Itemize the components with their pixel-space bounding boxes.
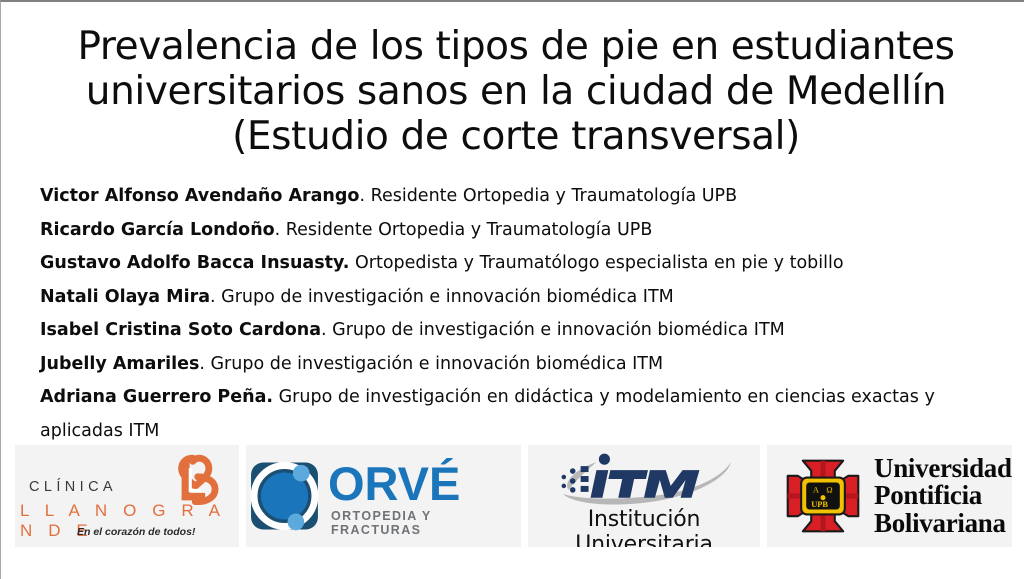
upb-cross-shield-icon: A Ω UPB — [781, 454, 865, 538]
title-line-1: Prevalencia de los tipos de pie en estud… — [61, 24, 971, 69]
llanogrande-word-clinica: CLÍNICA — [29, 479, 117, 495]
itm-swoosh-logo-icon — [545, 450, 743, 508]
itm-subtitle: Institución Universitaria — [528, 507, 760, 547]
upb-shield-initials: UPB — [811, 500, 828, 509]
upb-line-1: Universidad — [874, 455, 1012, 483]
author-entry: Ricardo García Londoño. Residente Ortope… — [40, 214, 1015, 248]
author-name: Gustavo Adolfo Bacca Insuasty. — [40, 253, 349, 273]
author-affiliation: Ortopedista y Traumatólogo especialista … — [349, 253, 843, 273]
presentation-slide: Prevalencia de los tipos de pie en estud… — [0, 0, 1024, 579]
author-entry: Gustavo Adolfo Bacca Insuasty. Ortopedis… — [40, 247, 1015, 281]
author-entry: Natali Olaya Mira. Grupo de investigació… — [40, 281, 1015, 315]
orve-circle-emblem-icon — [248, 458, 324, 534]
orve-subtitle: ORTOPEDIA Y FRACTURAS — [331, 509, 521, 537]
logo-panel-orve: ORVÉ ORTOPEDIA Y FRACTURAS — [246, 445, 521, 547]
author-entry: Jubelly Amariles. Grupo de investigación… — [40, 348, 1015, 382]
orve-wordmark: ORVÉ — [328, 460, 521, 508]
author-name: Jubelly Amariles — [40, 354, 199, 374]
author-affiliation: . Grupo de investigación e innovación bi… — [199, 354, 663, 374]
llanogrande-tagline: En el corazón de todos! — [77, 526, 195, 538]
author-affiliation: . Grupo de investigación e innovación bi… — [210, 287, 674, 307]
author-entry: Adriana Guerrero Peña. Grupo de investig… — [40, 381, 1015, 448]
author-name: Adriana Guerrero Peña. — [40, 387, 273, 407]
upb-wordmark: Universidad Pontificia Bolivariana — [874, 455, 1012, 538]
author-name: Ricardo García Londoño — [40, 220, 275, 240]
author-name: Victor Alfonso Avendaño Arango — [40, 186, 359, 206]
author-entry: Victor Alfonso Avendaño Arango. Resident… — [40, 180, 1015, 214]
author-affiliation: . Residente Ortopedia y Traumatología UP… — [275, 220, 653, 240]
slide-title: Prevalencia de los tipos de pie en estud… — [61, 24, 971, 159]
upb-shield-alpha: A — [813, 486, 819, 495]
logo-panel-upb: A Ω UPB Universidad Pontificia Bolivaria… — [767, 445, 1012, 547]
upb-shield-omega: Ω — [826, 486, 832, 495]
upb-line-2: Pontificia — [874, 482, 1012, 510]
author-affiliation: . Grupo de investigación e innovación bi… — [321, 320, 785, 340]
author-entry: Isabel Cristina Soto Cardona. Grupo de i… — [40, 314, 1015, 348]
title-line-2: universitarios sanos en la ciudad de Med… — [61, 69, 971, 114]
title-line-3: (Estudio de corte transversal) — [61, 114, 971, 159]
author-list: Victor Alfonso Avendaño Arango. Resident… — [40, 180, 1015, 448]
author-affiliation: . Residente Ortopedia y Traumatología UP… — [359, 186, 737, 206]
logo-panel-itm: Institución Universitaria — [528, 445, 760, 547]
author-name: Natali Olaya Mira — [40, 287, 210, 307]
upb-line-3: Bolivariana — [874, 510, 1012, 538]
logo-panel-llanogrande: CLÍNICA L L A N O G R A N D E En el cora… — [15, 445, 239, 547]
sponsor-logo-strip: CLÍNICA L L A N O G R A N D E En el cora… — [15, 445, 1013, 547]
author-name: Isabel Cristina Soto Cardona — [40, 320, 321, 340]
